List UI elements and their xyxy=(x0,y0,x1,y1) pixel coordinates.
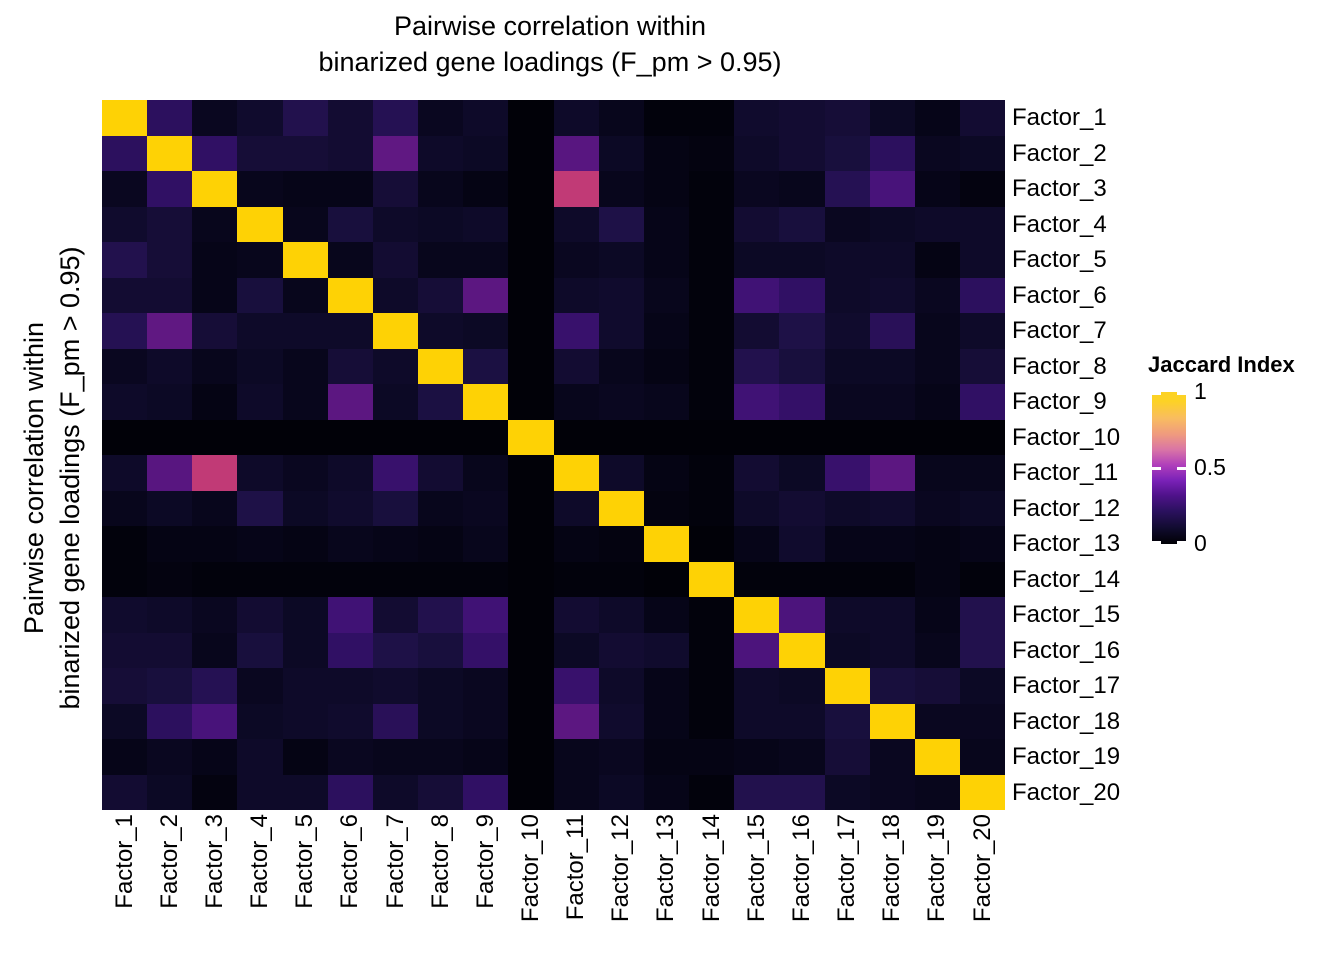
heatmap-cell[interactable] xyxy=(463,349,508,385)
heatmap-cell[interactable] xyxy=(508,207,553,243)
heatmap-cell[interactable] xyxy=(779,207,824,243)
heatmap-cell[interactable] xyxy=(599,491,644,527)
heatmap-cell[interactable] xyxy=(870,668,915,704)
heatmap-cell[interactable] xyxy=(237,207,282,243)
heatmap-cell[interactable] xyxy=(147,171,192,207)
heatmap-cell[interactable] xyxy=(373,136,418,172)
heatmap-cell[interactable] xyxy=(599,562,644,598)
heatmap-cell[interactable] xyxy=(102,597,147,633)
heatmap-cell[interactable] xyxy=(508,278,553,314)
heatmap-cell[interactable] xyxy=(418,242,463,278)
heatmap-cell[interactable] xyxy=(328,597,373,633)
heatmap-cell[interactable] xyxy=(870,136,915,172)
heatmap-cell[interactable] xyxy=(915,100,960,136)
heatmap-cell[interactable] xyxy=(554,207,599,243)
heatmap-cell[interactable] xyxy=(644,420,689,456)
heatmap-cell[interactable] xyxy=(102,349,147,385)
heatmap-cell[interactable] xyxy=(328,420,373,456)
heatmap-cell[interactable] xyxy=(599,420,644,456)
heatmap-cell[interactable] xyxy=(734,171,779,207)
heatmap-cell[interactable] xyxy=(689,668,734,704)
heatmap-cell[interactable] xyxy=(283,455,328,491)
heatmap-cell[interactable] xyxy=(734,278,779,314)
heatmap-cell[interactable] xyxy=(192,278,237,314)
heatmap-cell[interactable] xyxy=(960,100,1005,136)
heatmap-cell[interactable] xyxy=(825,526,870,562)
heatmap-cell[interactable] xyxy=(463,633,508,669)
heatmap-cell[interactable] xyxy=(102,526,147,562)
heatmap-cell[interactable] xyxy=(463,207,508,243)
heatmap-cell[interactable] xyxy=(599,100,644,136)
heatmap-cell[interactable] xyxy=(689,242,734,278)
heatmap-cell[interactable] xyxy=(554,420,599,456)
heatmap-cell[interactable] xyxy=(915,136,960,172)
heatmap-cell[interactable] xyxy=(283,349,328,385)
heatmap-cell[interactable] xyxy=(283,420,328,456)
heatmap-cell[interactable] xyxy=(192,384,237,420)
heatmap-cell[interactable] xyxy=(328,313,373,349)
heatmap-cell[interactable] xyxy=(283,668,328,704)
heatmap-cell[interactable] xyxy=(147,668,192,704)
heatmap-cell[interactable] xyxy=(418,100,463,136)
heatmap-cell[interactable] xyxy=(870,455,915,491)
heatmap-cell[interactable] xyxy=(825,739,870,775)
heatmap-cell[interactable] xyxy=(237,633,282,669)
heatmap-cell[interactable] xyxy=(554,668,599,704)
heatmap-cell[interactable] xyxy=(283,171,328,207)
heatmap-cell[interactable] xyxy=(689,313,734,349)
heatmap-cell[interactable] xyxy=(192,349,237,385)
heatmap-cell[interactable] xyxy=(418,739,463,775)
heatmap-cell[interactable] xyxy=(192,633,237,669)
heatmap-cell[interactable] xyxy=(554,775,599,811)
heatmap-cell[interactable] xyxy=(508,704,553,740)
heatmap-cell[interactable] xyxy=(373,633,418,669)
heatmap-cell[interactable] xyxy=(418,349,463,385)
heatmap-cell[interactable] xyxy=(599,704,644,740)
heatmap-cell[interactable] xyxy=(915,491,960,527)
heatmap-cell[interactable] xyxy=(960,704,1005,740)
heatmap-cell[interactable] xyxy=(599,207,644,243)
heatmap-cell[interactable] xyxy=(192,171,237,207)
heatmap-cell[interactable] xyxy=(283,526,328,562)
heatmap-cell[interactable] xyxy=(689,136,734,172)
heatmap-cell[interactable] xyxy=(237,668,282,704)
heatmap-cell[interactable] xyxy=(102,455,147,491)
heatmap-cell[interactable] xyxy=(689,633,734,669)
heatmap-cell[interactable] xyxy=(960,597,1005,633)
heatmap-cell[interactable] xyxy=(644,242,689,278)
heatmap-cell[interactable] xyxy=(508,171,553,207)
heatmap-cell[interactable] xyxy=(283,491,328,527)
heatmap-cell[interactable] xyxy=(102,313,147,349)
heatmap-cell[interactable] xyxy=(689,775,734,811)
heatmap-cell[interactable] xyxy=(102,136,147,172)
heatmap-cell[interactable] xyxy=(554,526,599,562)
heatmap-cell[interactable] xyxy=(237,420,282,456)
heatmap-cell[interactable] xyxy=(102,207,147,243)
heatmap-cell[interactable] xyxy=(689,739,734,775)
heatmap-cell[interactable] xyxy=(599,242,644,278)
heatmap-cell[interactable] xyxy=(328,668,373,704)
heatmap-cell[interactable] xyxy=(734,136,779,172)
heatmap-cell[interactable] xyxy=(779,491,824,527)
heatmap-cell[interactable] xyxy=(554,633,599,669)
heatmap-cell[interactable] xyxy=(373,455,418,491)
heatmap-cell[interactable] xyxy=(734,704,779,740)
heatmap-cell[interactable] xyxy=(644,668,689,704)
heatmap-cell[interactable] xyxy=(960,633,1005,669)
heatmap-cell[interactable] xyxy=(328,384,373,420)
heatmap-cell[interactable] xyxy=(147,704,192,740)
heatmap-cell[interactable] xyxy=(508,597,553,633)
heatmap-cell[interactable] xyxy=(779,633,824,669)
heatmap-cell[interactable] xyxy=(825,171,870,207)
heatmap-cell[interactable] xyxy=(734,562,779,598)
heatmap-cell[interactable] xyxy=(825,775,870,811)
heatmap-cell[interactable] xyxy=(689,562,734,598)
heatmap-cell[interactable] xyxy=(373,207,418,243)
heatmap-cell[interactable] xyxy=(825,633,870,669)
heatmap-cell[interactable] xyxy=(192,775,237,811)
heatmap-cell[interactable] xyxy=(960,775,1005,811)
heatmap-cell[interactable] xyxy=(779,384,824,420)
heatmap-cell[interactable] xyxy=(779,668,824,704)
heatmap-cell[interactable] xyxy=(870,491,915,527)
heatmap-cell[interactable] xyxy=(960,668,1005,704)
heatmap-cell[interactable] xyxy=(237,384,282,420)
heatmap-cell[interactable] xyxy=(508,242,553,278)
heatmap-cell[interactable] xyxy=(915,455,960,491)
heatmap-cell[interactable] xyxy=(192,313,237,349)
heatmap-cell[interactable] xyxy=(870,384,915,420)
heatmap-cell[interactable] xyxy=(373,420,418,456)
heatmap-cell[interactable] xyxy=(102,100,147,136)
heatmap-cell[interactable] xyxy=(644,207,689,243)
heatmap-cell[interactable] xyxy=(915,739,960,775)
heatmap-cell[interactable] xyxy=(508,739,553,775)
heatmap-cell[interactable] xyxy=(870,171,915,207)
heatmap-cell[interactable] xyxy=(734,739,779,775)
heatmap-cell[interactable] xyxy=(418,526,463,562)
heatmap-cell[interactable] xyxy=(237,491,282,527)
heatmap-cell[interactable] xyxy=(599,313,644,349)
heatmap-cell[interactable] xyxy=(283,100,328,136)
heatmap-cell[interactable] xyxy=(328,739,373,775)
heatmap-cell[interactable] xyxy=(825,207,870,243)
heatmap-cell[interactable] xyxy=(463,313,508,349)
heatmap-cell[interactable] xyxy=(734,349,779,385)
heatmap-cell[interactable] xyxy=(418,775,463,811)
heatmap-cell[interactable] xyxy=(283,136,328,172)
heatmap-cell[interactable] xyxy=(418,136,463,172)
heatmap-cell[interactable] xyxy=(418,562,463,598)
heatmap-cell[interactable] xyxy=(147,775,192,811)
heatmap-cell[interactable] xyxy=(418,597,463,633)
heatmap-cell[interactable] xyxy=(644,100,689,136)
heatmap-cell[interactable] xyxy=(463,704,508,740)
heatmap-cell[interactable] xyxy=(825,704,870,740)
heatmap-cell[interactable] xyxy=(779,562,824,598)
heatmap-cell[interactable] xyxy=(599,171,644,207)
heatmap-cell[interactable] xyxy=(328,171,373,207)
heatmap-cell[interactable] xyxy=(960,455,1005,491)
heatmap-cell[interactable] xyxy=(102,704,147,740)
heatmap-cell[interactable] xyxy=(960,349,1005,385)
heatmap-cell[interactable] xyxy=(734,207,779,243)
heatmap-cell[interactable] xyxy=(554,278,599,314)
heatmap-cell[interactable] xyxy=(373,491,418,527)
heatmap-cell[interactable] xyxy=(283,207,328,243)
heatmap-cell[interactable] xyxy=(644,704,689,740)
heatmap-cell[interactable] xyxy=(644,491,689,527)
heatmap-cell[interactable] xyxy=(779,313,824,349)
heatmap-cell[interactable] xyxy=(960,491,1005,527)
heatmap-cell[interactable] xyxy=(463,597,508,633)
heatmap-cell[interactable] xyxy=(960,384,1005,420)
heatmap-cell[interactable] xyxy=(915,420,960,456)
heatmap-cell[interactable] xyxy=(237,775,282,811)
heatmap-cell[interactable] xyxy=(960,420,1005,456)
heatmap-cell[interactable] xyxy=(960,278,1005,314)
heatmap-cell[interactable] xyxy=(283,739,328,775)
heatmap-cell[interactable] xyxy=(418,207,463,243)
heatmap-cell[interactable] xyxy=(373,597,418,633)
heatmap-cell[interactable] xyxy=(734,384,779,420)
heatmap-cell[interactable] xyxy=(328,278,373,314)
heatmap-cell[interactable] xyxy=(373,739,418,775)
heatmap-cell[interactable] xyxy=(870,313,915,349)
heatmap-cell[interactable] xyxy=(825,100,870,136)
heatmap-cell[interactable] xyxy=(960,136,1005,172)
heatmap-cell[interactable] xyxy=(870,242,915,278)
heatmap-cell[interactable] xyxy=(915,384,960,420)
heatmap-cell[interactable] xyxy=(915,562,960,598)
heatmap-cell[interactable] xyxy=(102,278,147,314)
heatmap-cell[interactable] xyxy=(147,633,192,669)
heatmap-cell[interactable] xyxy=(554,597,599,633)
heatmap-cell[interactable] xyxy=(418,420,463,456)
heatmap-cell[interactable] xyxy=(554,100,599,136)
heatmap-cell[interactable] xyxy=(237,526,282,562)
heatmap-cell[interactable] xyxy=(418,278,463,314)
heatmap-cell[interactable] xyxy=(689,704,734,740)
heatmap-cell[interactable] xyxy=(915,526,960,562)
heatmap-cell[interactable] xyxy=(599,526,644,562)
heatmap-cell[interactable] xyxy=(192,136,237,172)
heatmap-cell[interactable] xyxy=(554,455,599,491)
heatmap-cell[interactable] xyxy=(147,278,192,314)
heatmap-cell[interactable] xyxy=(734,668,779,704)
heatmap-cell[interactable] xyxy=(192,207,237,243)
heatmap-cell[interactable] xyxy=(102,633,147,669)
heatmap-cell[interactable] xyxy=(192,420,237,456)
heatmap-cell[interactable] xyxy=(373,526,418,562)
heatmap-cell[interactable] xyxy=(960,313,1005,349)
heatmap-cell[interactable] xyxy=(373,384,418,420)
heatmap-cell[interactable] xyxy=(960,207,1005,243)
heatmap-cell[interactable] xyxy=(192,100,237,136)
heatmap-cell[interactable] xyxy=(554,313,599,349)
heatmap-cell[interactable] xyxy=(418,633,463,669)
heatmap-cell[interactable] xyxy=(237,278,282,314)
heatmap-cell[interactable] xyxy=(508,100,553,136)
heatmap-cell[interactable] xyxy=(373,100,418,136)
heatmap-cell[interactable] xyxy=(915,597,960,633)
heatmap-cell[interactable] xyxy=(644,455,689,491)
heatmap-cell[interactable] xyxy=(825,668,870,704)
heatmap-cell[interactable] xyxy=(915,775,960,811)
heatmap-cell[interactable] xyxy=(373,562,418,598)
heatmap-cell[interactable] xyxy=(554,171,599,207)
heatmap-cell[interactable] xyxy=(825,136,870,172)
heatmap-cell[interactable] xyxy=(328,562,373,598)
heatmap-cell[interactable] xyxy=(508,491,553,527)
heatmap-cell[interactable] xyxy=(825,562,870,598)
heatmap-cell[interactable] xyxy=(463,739,508,775)
heatmap-cell[interactable] xyxy=(554,562,599,598)
heatmap-cell[interactable] xyxy=(599,278,644,314)
heatmap-cell[interactable] xyxy=(870,633,915,669)
heatmap-cell[interactable] xyxy=(915,242,960,278)
heatmap-cell[interactable] xyxy=(779,136,824,172)
heatmap-cell[interactable] xyxy=(508,313,553,349)
heatmap-cell[interactable] xyxy=(915,313,960,349)
heatmap-cell[interactable] xyxy=(825,349,870,385)
heatmap-cell[interactable] xyxy=(463,100,508,136)
heatmap-cell[interactable] xyxy=(373,704,418,740)
heatmap-cell[interactable] xyxy=(508,420,553,456)
heatmap-cell[interactable] xyxy=(373,171,418,207)
heatmap-cell[interactable] xyxy=(102,171,147,207)
heatmap-cell[interactable] xyxy=(463,171,508,207)
heatmap-cell[interactable] xyxy=(508,384,553,420)
heatmap-cell[interactable] xyxy=(689,278,734,314)
heatmap-cell[interactable] xyxy=(418,384,463,420)
heatmap-cell[interactable] xyxy=(373,668,418,704)
heatmap-cell[interactable] xyxy=(779,526,824,562)
heatmap-cell[interactable] xyxy=(734,455,779,491)
heatmap-cell[interactable] xyxy=(147,313,192,349)
heatmap-cell[interactable] xyxy=(328,136,373,172)
heatmap-cell[interactable] xyxy=(644,136,689,172)
heatmap-cell[interactable] xyxy=(870,704,915,740)
heatmap-cell[interactable] xyxy=(463,526,508,562)
heatmap-cell[interactable] xyxy=(237,242,282,278)
heatmap-cell[interactable] xyxy=(373,313,418,349)
heatmap-cell[interactable] xyxy=(689,455,734,491)
heatmap-cell[interactable] xyxy=(147,739,192,775)
heatmap-cell[interactable] xyxy=(779,455,824,491)
heatmap-cell[interactable] xyxy=(870,278,915,314)
heatmap-cell[interactable] xyxy=(960,739,1005,775)
heatmap-cell[interactable] xyxy=(192,455,237,491)
heatmap-cell[interactable] xyxy=(825,597,870,633)
heatmap-cell[interactable] xyxy=(192,704,237,740)
heatmap-cell[interactable] xyxy=(779,704,824,740)
heatmap-cell[interactable] xyxy=(825,420,870,456)
heatmap-cell[interactable] xyxy=(373,775,418,811)
heatmap-cell[interactable] xyxy=(689,171,734,207)
heatmap-cell[interactable] xyxy=(147,100,192,136)
heatmap-cell[interactable] xyxy=(779,597,824,633)
heatmap-cell[interactable] xyxy=(689,349,734,385)
heatmap-cell[interactable] xyxy=(825,491,870,527)
heatmap-cell[interactable] xyxy=(418,313,463,349)
heatmap-cell[interactable] xyxy=(102,668,147,704)
heatmap-cell[interactable] xyxy=(508,455,553,491)
heatmap-cell[interactable] xyxy=(734,420,779,456)
heatmap-cell[interactable] xyxy=(644,384,689,420)
heatmap-cell[interactable] xyxy=(825,242,870,278)
heatmap-cell[interactable] xyxy=(554,242,599,278)
heatmap-cell[interactable] xyxy=(644,597,689,633)
heatmap-cell[interactable] xyxy=(328,775,373,811)
heatmap-cell[interactable] xyxy=(283,278,328,314)
heatmap-cell[interactable] xyxy=(463,668,508,704)
heatmap-cell[interactable] xyxy=(599,668,644,704)
heatmap-cell[interactable] xyxy=(870,420,915,456)
heatmap-cell[interactable] xyxy=(779,420,824,456)
heatmap-cell[interactable] xyxy=(734,242,779,278)
heatmap-cell[interactable] xyxy=(779,739,824,775)
heatmap-cell[interactable] xyxy=(283,384,328,420)
heatmap-cell[interactable] xyxy=(915,668,960,704)
heatmap-cell[interactable] xyxy=(373,278,418,314)
heatmap-cell[interactable] xyxy=(192,242,237,278)
heatmap-cell[interactable] xyxy=(102,384,147,420)
heatmap-cell[interactable] xyxy=(463,136,508,172)
heatmap-cell[interactable] xyxy=(779,171,824,207)
heatmap-cell[interactable] xyxy=(779,278,824,314)
heatmap-cell[interactable] xyxy=(418,704,463,740)
heatmap-cell[interactable] xyxy=(328,491,373,527)
heatmap-cell[interactable] xyxy=(825,455,870,491)
heatmap-cell[interactable] xyxy=(147,491,192,527)
heatmap-cell[interactable] xyxy=(779,349,824,385)
heatmap-cell[interactable] xyxy=(418,171,463,207)
heatmap-cell[interactable] xyxy=(237,597,282,633)
heatmap-cell[interactable] xyxy=(554,704,599,740)
heatmap-cell[interactable] xyxy=(328,633,373,669)
heatmap-cell[interactable] xyxy=(689,420,734,456)
heatmap-cell[interactable] xyxy=(825,313,870,349)
heatmap-cell[interactable] xyxy=(463,278,508,314)
heatmap-cell[interactable] xyxy=(960,526,1005,562)
heatmap-cell[interactable] xyxy=(283,597,328,633)
heatmap-cell[interactable] xyxy=(870,100,915,136)
heatmap-cell[interactable] xyxy=(554,136,599,172)
heatmap-cell[interactable] xyxy=(915,207,960,243)
heatmap-cell[interactable] xyxy=(328,349,373,385)
heatmap-cell[interactable] xyxy=(825,278,870,314)
heatmap-cell[interactable] xyxy=(508,633,553,669)
heatmap-cell[interactable] xyxy=(825,384,870,420)
heatmap-cell[interactable] xyxy=(915,278,960,314)
heatmap-cell[interactable] xyxy=(373,242,418,278)
heatmap-cell[interactable] xyxy=(328,242,373,278)
heatmap-cell[interactable] xyxy=(147,420,192,456)
heatmap-cell[interactable] xyxy=(283,704,328,740)
heatmap-cell[interactable] xyxy=(870,349,915,385)
heatmap-cell[interactable] xyxy=(237,704,282,740)
heatmap-cell[interactable] xyxy=(328,704,373,740)
heatmap-cell[interactable] xyxy=(870,562,915,598)
heatmap-cell[interactable] xyxy=(147,242,192,278)
heatmap-cell[interactable] xyxy=(328,207,373,243)
heatmap-cell[interactable] xyxy=(870,597,915,633)
heatmap-cell[interactable] xyxy=(192,526,237,562)
